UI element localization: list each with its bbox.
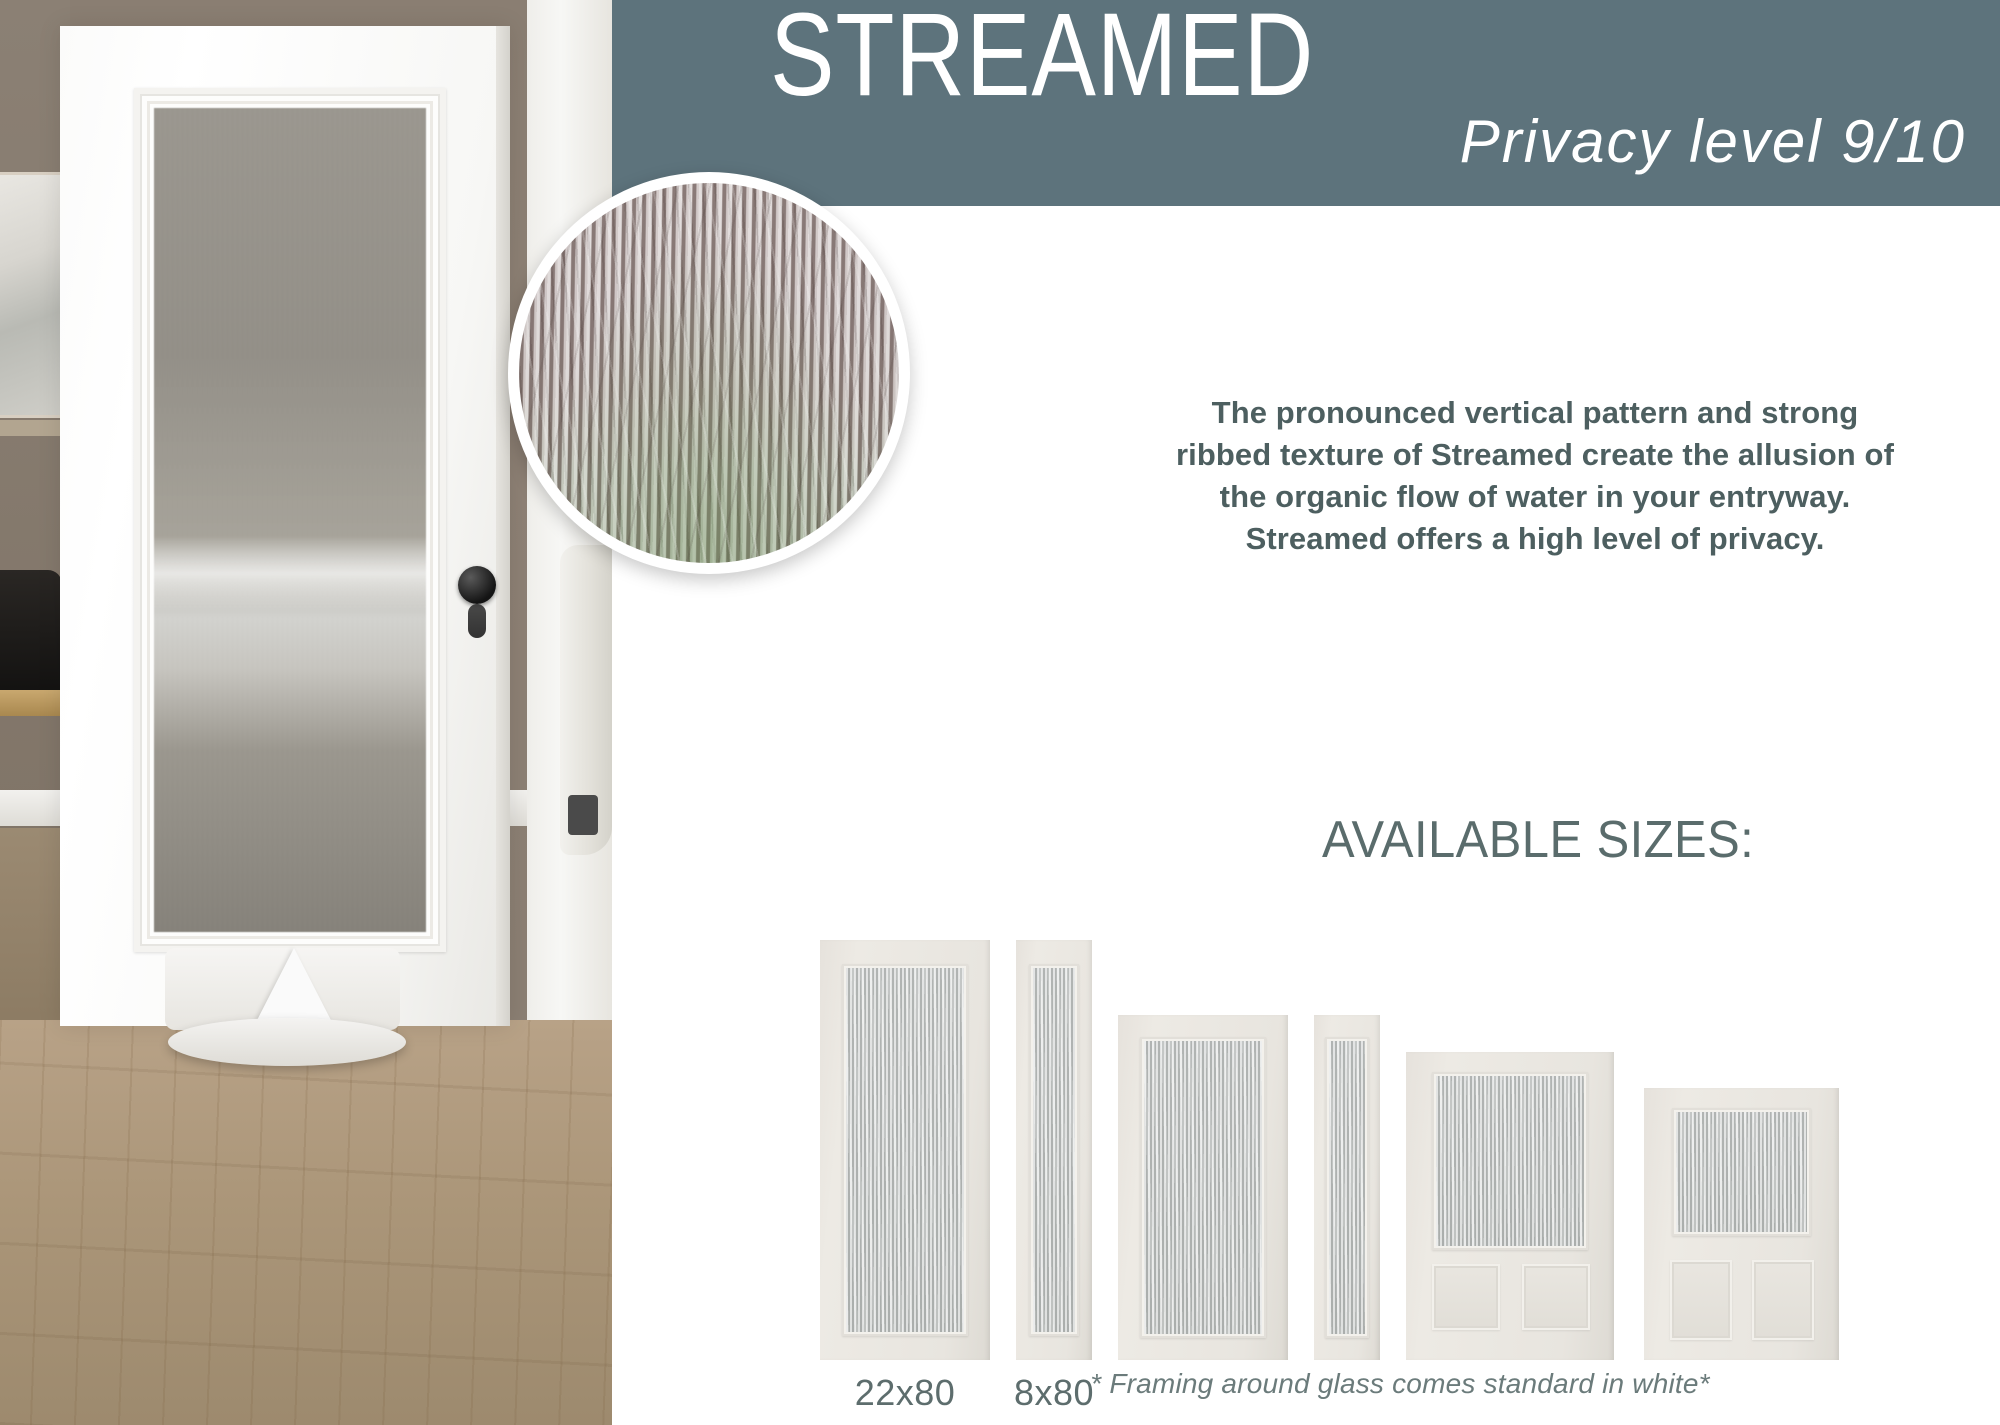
size-item-22x48[interactable]: 22x48 [1406, 1052, 1614, 1360]
framing-footnote: * Framing around glass comes standard in… [820, 1368, 1980, 1400]
available-sizes-list: 22x80 8x80 22x64 [820, 820, 1980, 1360]
glass-lite [842, 964, 968, 1336]
wall-artwork-shadow [0, 420, 64, 436]
door-thumbnail [1016, 940, 1092, 1360]
glass-texture-swatch [508, 172, 910, 574]
door-latch-plate [468, 604, 486, 638]
door-thumbnail [1314, 1015, 1380, 1360]
floor-left-strip [0, 828, 66, 1043]
glass-lite-frame [134, 88, 446, 952]
glass-texture [1676, 1112, 1807, 1232]
floor-object [568, 795, 598, 835]
door-edge [496, 26, 510, 1026]
glass-lite [1672, 1108, 1811, 1236]
door-thumbnail [820, 940, 990, 1360]
glass-texture [1436, 1076, 1584, 1246]
wood-bench [0, 690, 66, 716]
raised-panel-left [1670, 1260, 1732, 1340]
privacy-level-label: Privacy level 9/10 [1460, 112, 1966, 172]
glass-lite [1432, 1072, 1588, 1250]
door-thumbnail [1406, 1052, 1614, 1360]
size-item-22x80[interactable]: 22x80 [820, 940, 990, 1360]
spec-sheet-page: STREAMED Privacy level 9/10 The pronounc… [0, 0, 2000, 1425]
size-item-22x36[interactable]: 22x36 [1644, 1088, 1839, 1360]
glass-texture-image [519, 183, 899, 563]
streamed-glass-panel [154, 108, 426, 932]
raised-panel-right [1522, 1264, 1590, 1330]
size-item-7x64[interactable]: 7x64 [1314, 1015, 1380, 1360]
glass-texture [1144, 1041, 1262, 1334]
door-slab [60, 26, 510, 1026]
header-band: STREAMED Privacy level 9/10 [612, 0, 2000, 206]
door-thumbnail [1118, 1015, 1288, 1360]
wood-floor [0, 1020, 612, 1425]
glass-texture [1033, 968, 1075, 1332]
door-thumbnail [1644, 1088, 1839, 1360]
raised-panel-right [1752, 1260, 1814, 1340]
glass-texture [1329, 1041, 1365, 1334]
door-knob [458, 566, 496, 604]
raised-panel-left [1432, 1264, 1500, 1330]
glass-texture [846, 968, 964, 1332]
display-stand-base [168, 1018, 406, 1066]
glass-lite [1029, 964, 1079, 1336]
page-title: STREAMED [770, 0, 1314, 114]
glass-lite [1325, 1037, 1369, 1338]
size-item-22x64[interactable]: 22x64 [1118, 1015, 1288, 1360]
dark-object [0, 570, 62, 694]
glass-lite [1140, 1037, 1266, 1338]
size-item-8x80[interactable]: 8x80 [1016, 940, 1092, 1360]
product-description: The pronounced vertical pattern and stro… [1160, 392, 1910, 561]
